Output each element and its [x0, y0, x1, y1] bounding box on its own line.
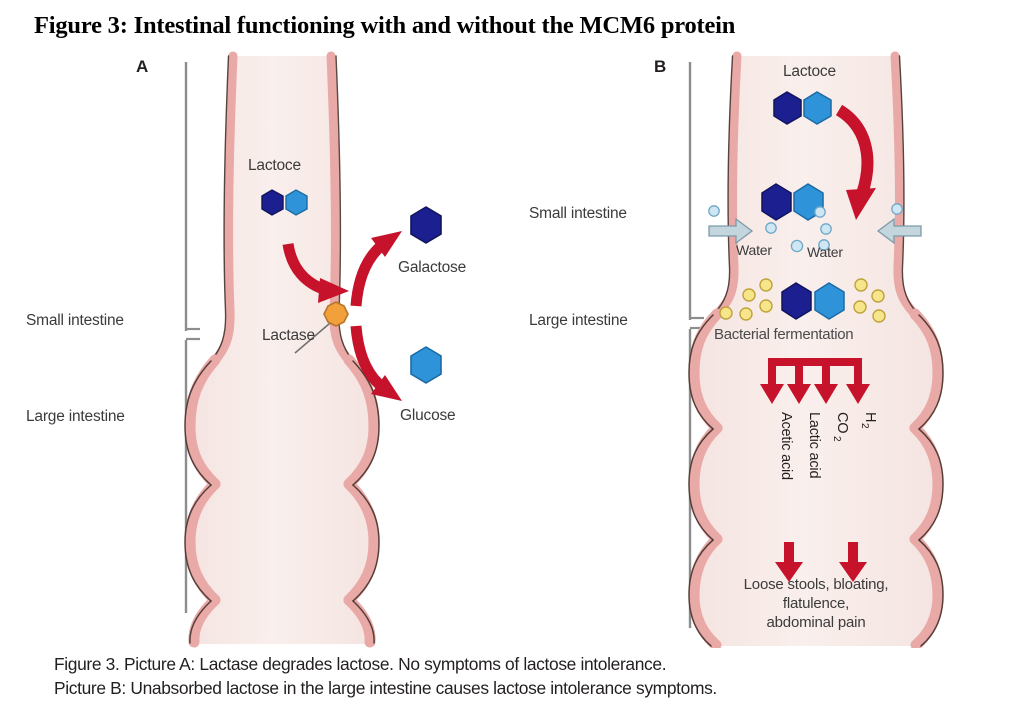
caption-line-1: Figure 3. Picture A: Lactase degrades la…: [54, 652, 1004, 676]
panel-a-lumen: [188, 56, 376, 644]
panel-a: A Small intestine Large intestine: [26, 56, 466, 644]
product-label-co2: CO: [834, 412, 850, 433]
product-label-h2: H: [862, 412, 878, 422]
glucose-hexagon-product: [411, 347, 441, 383]
figure-caption: Figure 3. Picture A: Lactase degrades la…: [54, 652, 1004, 700]
bacteria-dot: [855, 279, 867, 291]
water-droplet: [791, 240, 802, 251]
bacteria-dot: [743, 289, 755, 301]
bacteria-dot: [854, 301, 866, 313]
figure-title: Figure 3: Intestinal functioning with an…: [34, 12, 994, 40]
panel-b-water-left-label: Water: [736, 242, 772, 258]
water-droplet: [709, 206, 719, 216]
water-droplet: [815, 207, 825, 217]
figure-illustration: A Small intestine Large intestine: [0, 48, 1022, 648]
water-droplet: [821, 224, 831, 234]
product-label-h2-sub: 2: [859, 423, 870, 429]
bacteria-dot: [760, 279, 772, 291]
panel-a-letter: A: [136, 57, 148, 76]
panel-a-arrow-to-galactose: [356, 231, 402, 306]
product-label-acetic-acid: Acetic acid: [778, 412, 794, 480]
panel-a-galactose-label: Galactose: [398, 259, 466, 276]
panel-b-small-intestine-label: Small intestine: [529, 205, 627, 222]
bacteria-dot: [720, 307, 732, 319]
panel-a-glucose-product: [411, 347, 441, 383]
galactose-hexagon: [262, 190, 283, 215]
panel-a-galactose-product: [411, 207, 441, 243]
product-label-lactic-acid: Lactic acid: [806, 412, 822, 478]
product-label-co2-sub: 2: [831, 436, 842, 442]
panel-b-intestine: [689, 56, 943, 646]
caption-line-2: Picture B: Unabsorbed lactose in the lar…: [54, 676, 1004, 700]
bacteria-dot: [872, 290, 884, 302]
panel-b-letter: B: [654, 57, 666, 76]
glucose-hexagon: [286, 190, 307, 215]
panel-b-bacterial-fermentation-label: Bacterial fermentation: [714, 326, 853, 343]
bacteria-dot: [760, 300, 772, 312]
lactase-node: [324, 302, 348, 326]
panel-a-lactase-label: Lactase: [262, 327, 315, 344]
panel-a-large-intestine-label: Large intestine: [26, 408, 125, 425]
symptom-line-2: flatulence,: [783, 595, 849, 612]
galactose-hexagon-product: [411, 207, 441, 243]
figure-page: Figure 3: Intestinal functioning with an…: [0, 0, 1022, 722]
panel-b-large-intestine-label: Large intestine: [529, 312, 628, 329]
water-droplet: [892, 204, 902, 214]
panel-a-small-intestine-label: Small intestine: [26, 312, 124, 329]
bacteria-dot: [873, 310, 885, 322]
water-droplet: [766, 223, 776, 233]
panel-a-lactose-label: Lactoce: [248, 157, 301, 174]
panel-a-intestine: [185, 56, 379, 644]
symptom-line-3: abdominal pain: [767, 614, 866, 631]
panel-b-water-right-label: Water: [807, 244, 843, 260]
panel-b-lactose-label: Lactoce: [783, 63, 836, 80]
panel-a-glucose-label: Glucose: [400, 407, 455, 424]
panel-b: B Small intestine Large intestine: [529, 56, 943, 646]
symptom-line-1: Loose stools, bloating,: [744, 576, 889, 593]
bacteria-dot: [740, 308, 752, 320]
